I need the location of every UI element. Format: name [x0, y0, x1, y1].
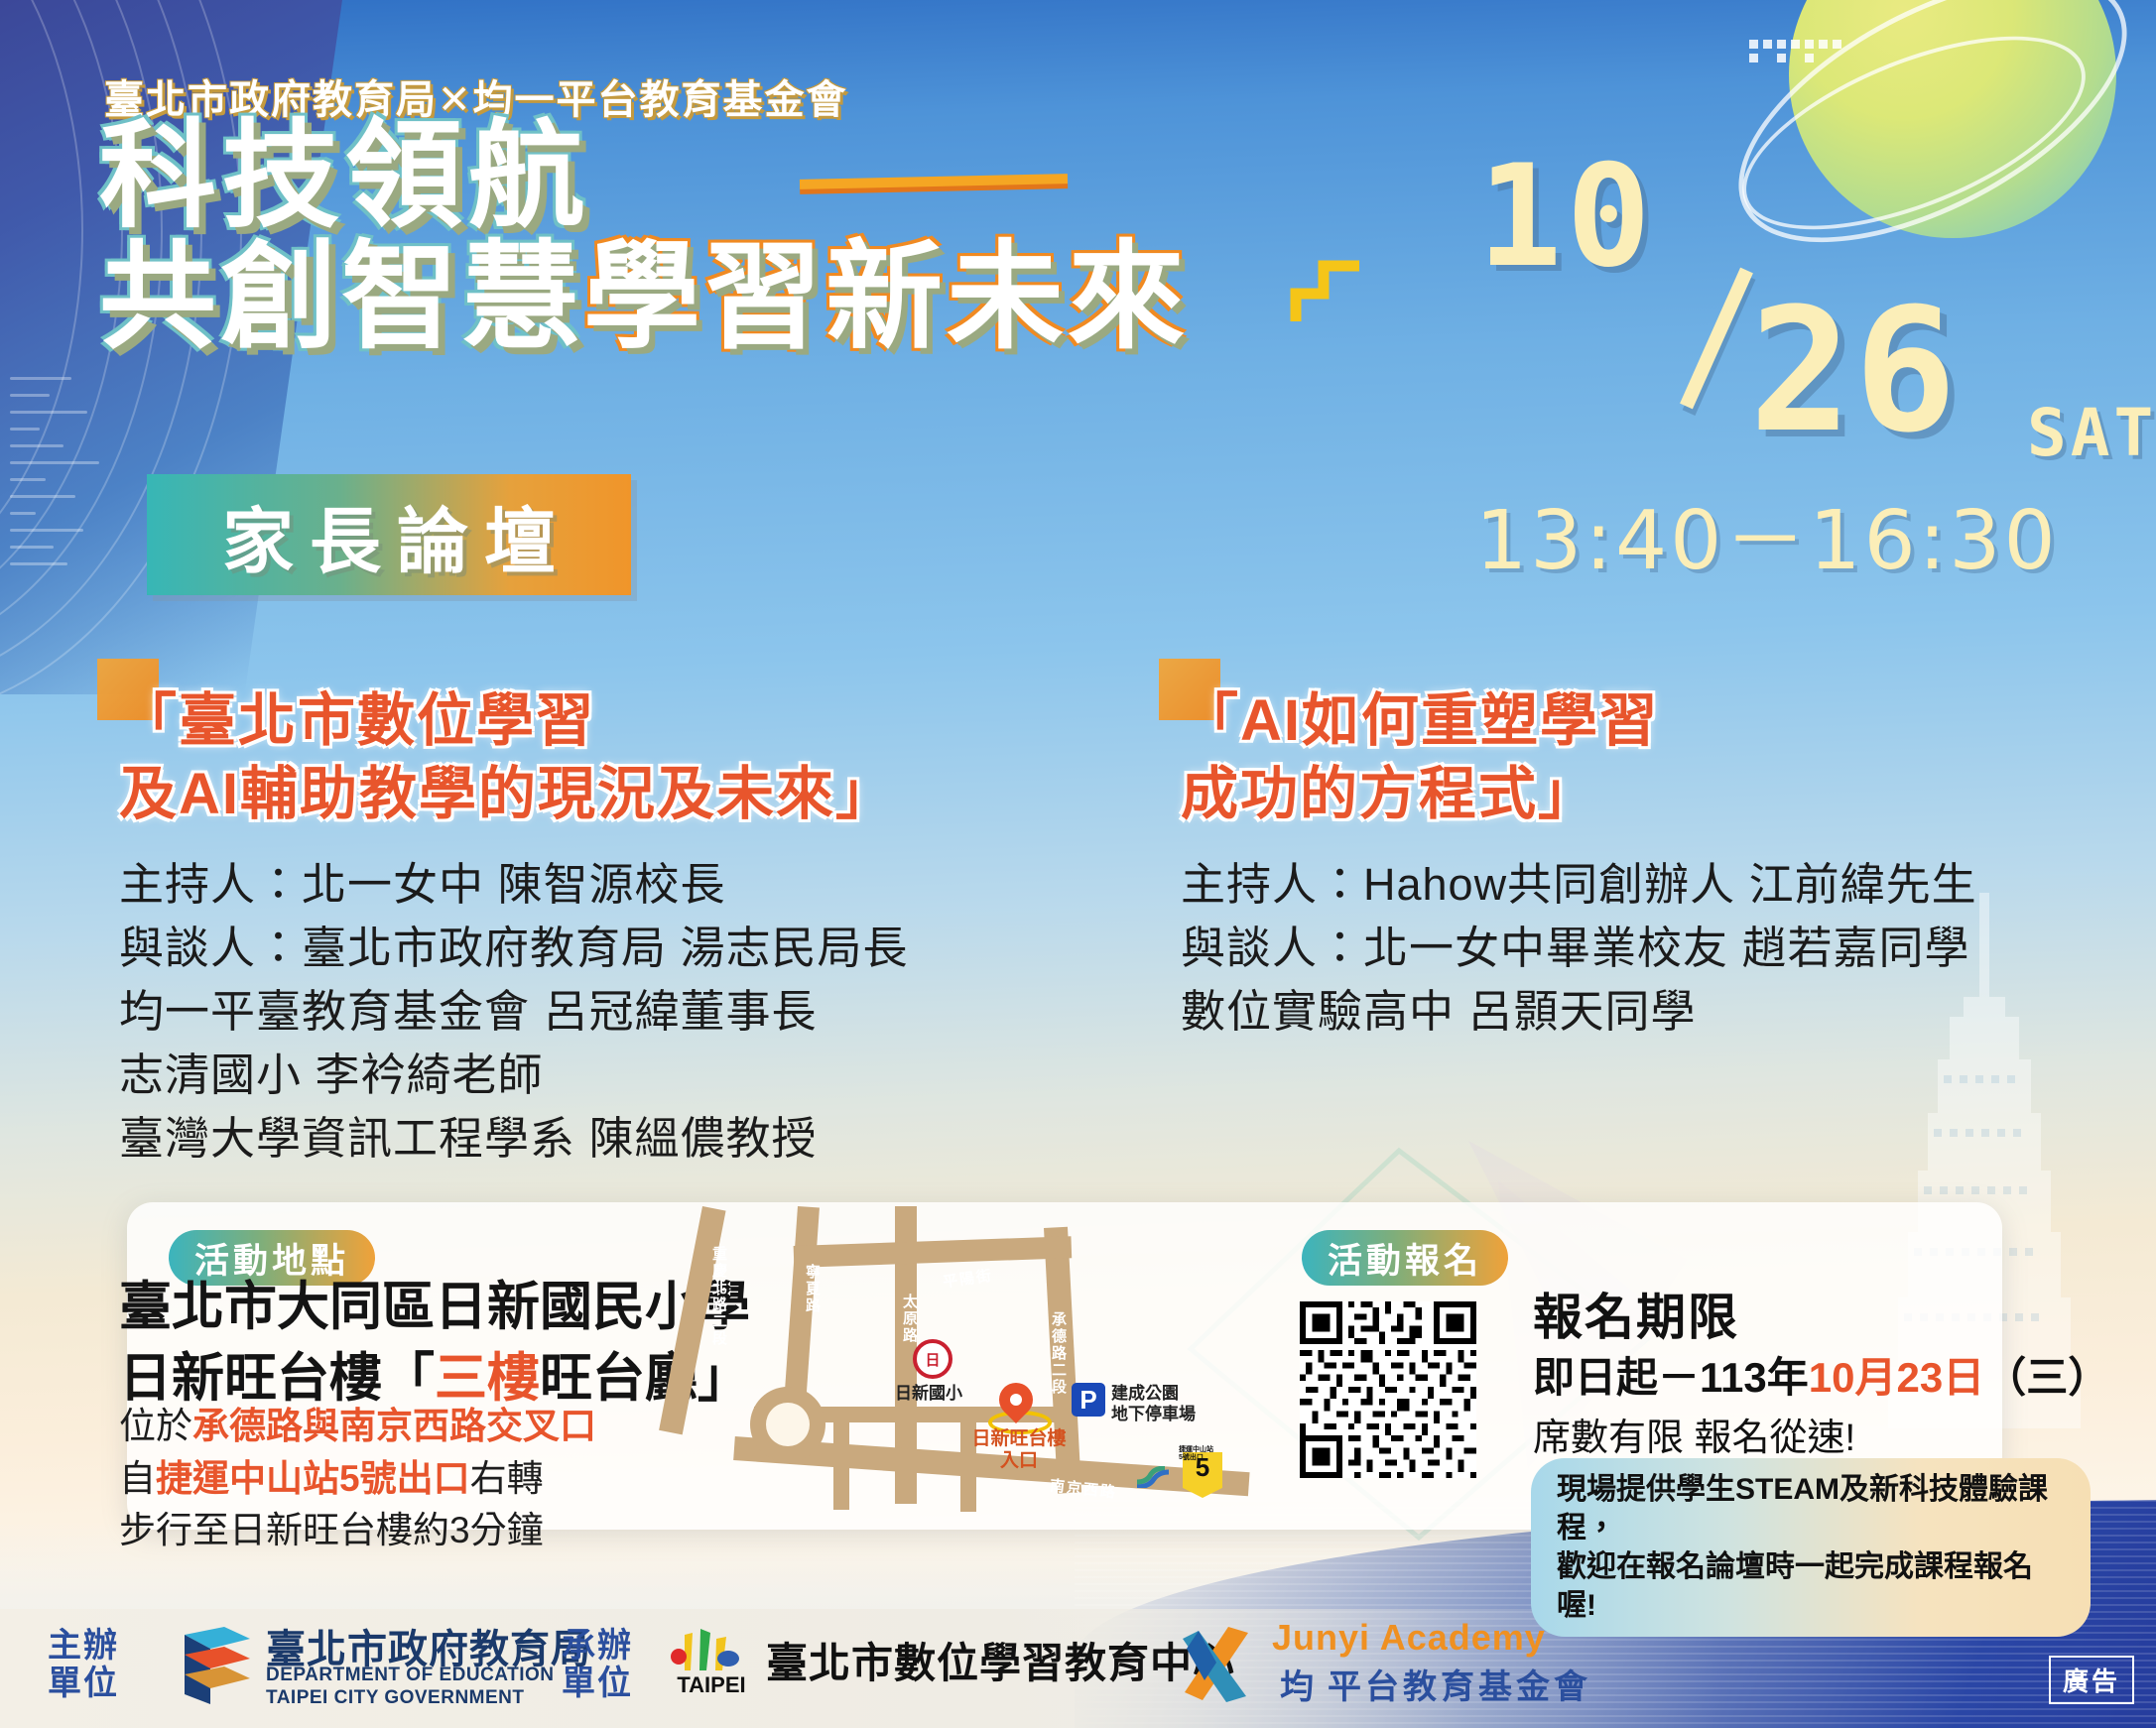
coorganizer-label: 承辦 單位	[562, 1627, 633, 1702]
session-right-title: 「AI如何重塑學習 成功的方程式」	[1181, 684, 2074, 831]
registration-deadline-pre: 即日起－113年	[1533, 1354, 1809, 1401]
map-label-entrance: 日新旺台樓 入口	[954, 1428, 1083, 1472]
footer: 主辦 單位 臺北市政府教育局 DEPARTMENT OF EDUCATION T…	[0, 1609, 2156, 1728]
map-label-taiyuan: 太原路	[899, 1294, 920, 1344]
registration-deadline: 即日起－113年10月23日（三）	[1533, 1344, 2109, 1405]
session-left-speakers: 主持人：北一女中 陳智源校長 與談人：臺北市政府教育局 湯志民局長 均一平臺教育…	[119, 853, 1131, 1170]
map-label-parking: 建成公園 地下停車場	[1111, 1383, 1230, 1425]
page-title-line2-white: 共創智慧	[99, 232, 583, 363]
page-title-line2: 共創智慧學習新未來	[99, 230, 1189, 366]
junyi-academy-name-en: Junyi Academy	[1272, 1617, 1546, 1659]
map-label-ningxia: 寧夏路	[802, 1264, 823, 1314]
map-label-pingyang: 平陽街	[942, 1265, 994, 1293]
school-badge-label: 日	[925, 1349, 940, 1370]
venue-directions: 位於承德路與南京西路交叉口 自捷運中山站5號出口右轉 步行至日新旺台樓約3分鐘	[119, 1401, 754, 1557]
session-left: 「臺北市數位學習 及AI輔助教學的現況及未來」 主持人：北一女中 陳智源校長 與…	[119, 684, 1131, 1171]
map-road-pingyang	[794, 1236, 1073, 1268]
venue-name: 臺北市大同區日新國民小學 日新旺台樓「三樓旺台廳」	[119, 1272, 754, 1414]
forum-badge-label: 家長論壇	[206, 483, 571, 587]
junyi-academy-name-en-text: Junyi Academy	[1272, 1617, 1546, 1658]
registration-title: 報名期限	[1533, 1278, 1739, 1349]
date-month: 10	[1477, 147, 1655, 288]
junyi-foundation-name: 均平台教育基金會	[1280, 1660, 1591, 1708]
venue-map: 重慶北路二段 寧夏路 太原路 平陽街 承德路二段 南京西路 日 日新國小 日新旺…	[695, 1212, 1270, 1510]
school-badge-icon: 日	[913, 1339, 952, 1379]
svg-text:TAIPEI: TAIPEI	[677, 1672, 745, 1697]
organizer-label: 主辦 單位	[48, 1627, 119, 1702]
map-label-chongqing: 重慶北路二段	[708, 1246, 729, 1347]
session-right: 「AI如何重塑學習 成功的方程式」 主持人：Hahow共同創辦人 江前緯先生 與…	[1181, 684, 2074, 1044]
junyi-academy-logo-icon	[1173, 1623, 1258, 1706]
parking-icon-letter: P	[1079, 1385, 1096, 1416]
page-title-line1: 科技領航	[99, 109, 591, 245]
venue-floor-highlight: 三樓	[435, 1349, 540, 1408]
venue-direction-1-hl: 承德路與南京西路交叉口	[192, 1406, 596, 1446]
date-weekday: SAT	[2027, 395, 2156, 471]
venue-direction-3: 步行至日新旺台樓約3分鐘	[119, 1505, 754, 1557]
venue-direction-2-pre: 自	[119, 1458, 156, 1499]
mrt-exit-caption: 捷運中山站 5號出口	[1179, 1446, 1213, 1461]
page-title-line2-orange: 學習新未來	[583, 232, 1189, 363]
session-right-speakers: 主持人：Hahow共同創辦人 江前緯先生 與談人：北一女中畢業校友 趙若嘉同學 …	[1181, 853, 2074, 1044]
mrt-logo-icon	[1135, 1466, 1181, 1488]
junyi-foundation-name-text: 平台教育基金會	[1328, 1668, 1591, 1706]
background-left-dashes	[10, 377, 129, 794]
map-roundabout-hole	[766, 1403, 810, 1446]
doe-name-en: DEPARTMENT OF EDUCATION TAIPEI CITY GOVE…	[266, 1664, 555, 1711]
forum-badge: 家長論壇	[147, 474, 631, 595]
venue-direction-2-hl: 捷運中山站5號出口	[156, 1458, 470, 1499]
map-label-school: 日新國小	[895, 1379, 962, 1404]
venue-direction-2: 自捷運中山站5號出口右轉	[119, 1453, 754, 1506]
pixel-dots-decor	[1749, 40, 1878, 79]
poster-root: 臺北市政府教育局✕均一平台教育基金會 科技領航 共創智慧學習新未來 家長論壇 1…	[0, 0, 2156, 1728]
parking-icon: P	[1072, 1383, 1105, 1417]
registration-pill-label: 活動報名	[1328, 1233, 1482, 1284]
date-day: 26	[1749, 286, 1959, 456]
map-label-chengde: 承德路二段	[1048, 1311, 1069, 1396]
title-zigzag-icon	[1290, 250, 1363, 327]
venue-direction-2-post: 右轉	[470, 1458, 544, 1499]
session-left-title: 「臺北市數位學習 及AI輔助教學的現況及未來」	[119, 684, 1131, 831]
registration-deadline-post: （三）	[1984, 1354, 2109, 1401]
dlc-name: 臺北市數位學習教育中心	[766, 1630, 1235, 1690]
venue-name-line2-pre: 日新旺台樓「	[119, 1349, 435, 1408]
venue-name-line1: 臺北市大同區日新國民小學	[119, 1272, 754, 1343]
registration-deadline-highlight: 10月23日	[1809, 1354, 1984, 1401]
registration-pill: 活動報名	[1302, 1230, 1508, 1286]
qr-code-icon[interactable]	[1300, 1301, 1476, 1478]
ad-badge: 廣告	[2049, 1656, 2134, 1704]
map-road-minor-2	[833, 1419, 849, 1510]
venue-direction-1-pre: 位於	[119, 1406, 192, 1446]
junyi-mark-char: 均	[1280, 1668, 1318, 1706]
taipei-city-logo-icon: TAIPEI	[667, 1627, 756, 1706]
registration-note: 席數有限 報名從速!	[1533, 1407, 1855, 1461]
taipei-doe-logo-icon	[177, 1625, 256, 1706]
event-time: 13:40－16:30	[1475, 474, 2059, 592]
